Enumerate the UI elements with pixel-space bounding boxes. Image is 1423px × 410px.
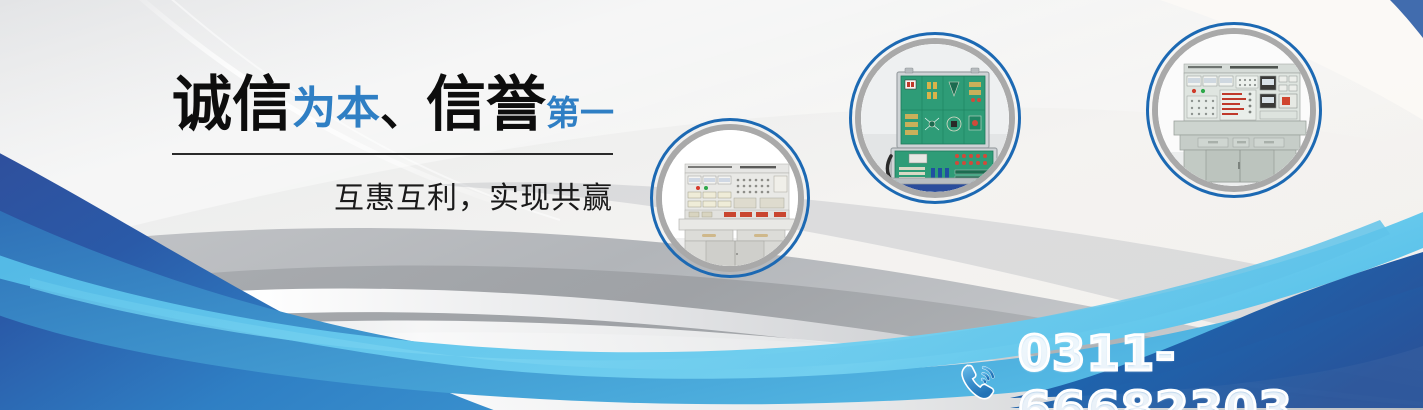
console-bench-illustration bbox=[1158, 34, 1310, 186]
promo-banner: 诚信为本、信誉第一 互惠互利，实现共赢 bbox=[0, 0, 1423, 410]
product-circle-console-bench[interactable] bbox=[1146, 22, 1322, 198]
product-photo-console-bench bbox=[1158, 34, 1310, 186]
workbench-illustration bbox=[662, 130, 798, 266]
headline-part1: 诚信 bbox=[172, 70, 292, 140]
headline-part3: 信誉 bbox=[426, 70, 546, 140]
training-case-illustration bbox=[861, 44, 1009, 192]
slogan-block: 诚信为本、信誉第一 互惠互利，实现共赢 bbox=[172, 72, 622, 217]
phone-ringing-icon bbox=[955, 356, 1004, 408]
headline: 诚信为本、信誉第一 bbox=[172, 72, 622, 147]
product-photo-training-case bbox=[861, 44, 1009, 192]
phone-number[interactable]: 0311-66682303 bbox=[1018, 326, 1423, 410]
circle-inner-ring bbox=[855, 38, 1015, 198]
product-circle-workbench[interactable] bbox=[650, 118, 810, 278]
headline-part2: 为本 bbox=[292, 83, 380, 134]
headline-divider bbox=[172, 153, 613, 155]
headline-punct: 、 bbox=[380, 82, 426, 136]
product-circle-training-case[interactable] bbox=[849, 32, 1021, 204]
subtitle: 互惠互利，实现共赢 bbox=[172, 173, 613, 217]
headline-part4: 第一 bbox=[546, 94, 614, 134]
circle-inner-ring bbox=[1152, 28, 1316, 192]
contact-block[interactable]: 0311-66682303 bbox=[955, 326, 1423, 410]
product-photo-workbench bbox=[662, 130, 798, 266]
circle-inner-ring bbox=[656, 124, 804, 272]
